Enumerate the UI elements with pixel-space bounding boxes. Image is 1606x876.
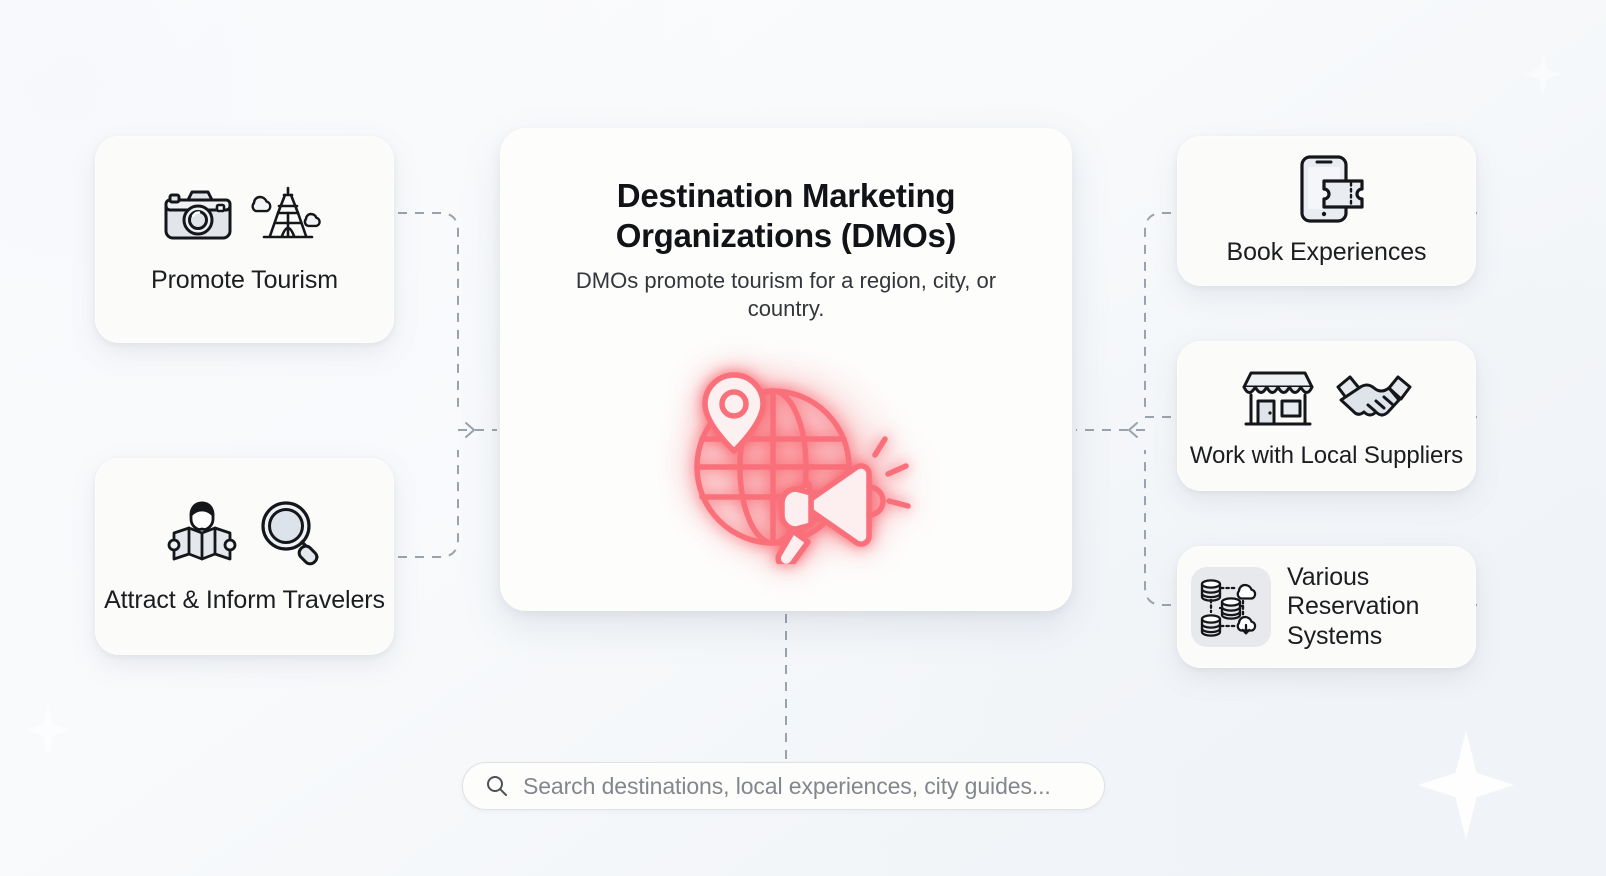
page-subtitle: DMOs promote tourism for a region, city,… — [561, 267, 1011, 324]
card-label: Attract & Inform Travelers — [104, 585, 385, 617]
database-cloud-network-icon — [1198, 575, 1264, 639]
sparkle-decoration — [26, 704, 70, 756]
eiffel-tower-icon — [248, 183, 328, 247]
traveler-with-map-icon — [163, 497, 241, 569]
card-label: Various Reservation Systems — [1287, 563, 1462, 652]
search-icon — [485, 774, 509, 798]
globe-pin-megaphone-icon — [661, 349, 911, 564]
camera-icon — [162, 186, 234, 244]
page-title: Destination Marketing Organizations (DMO… — [576, 176, 996, 257]
card-various-reservation-systems[interactable]: Various Reservation Systems — [1177, 546, 1476, 668]
center-card: Destination Marketing Organizations (DMO… — [500, 128, 1072, 611]
card-icon-group — [1191, 567, 1271, 647]
card-attract-inform-travelers[interactable]: Attract & Inform Travelers — [95, 458, 394, 655]
card-label: Promote Tourism — [151, 265, 338, 297]
card-label: Work with Local Suppliers — [1190, 441, 1463, 471]
card-icon-group — [1284, 153, 1370, 225]
search-input[interactable]: Search destinations, local experiences, … — [523, 773, 1051, 800]
search-bar[interactable]: Search destinations, local experiences, … — [462, 762, 1105, 810]
sparkle-decoration — [1418, 730, 1514, 840]
card-promote-tourism[interactable]: Promote Tourism — [95, 136, 394, 343]
mobile-ticket-icon — [1284, 153, 1370, 225]
magnifying-glass-icon — [255, 497, 327, 569]
card-icon-group — [1238, 361, 1416, 431]
handshake-icon — [1332, 365, 1416, 427]
card-label: Book Experiences — [1227, 237, 1427, 269]
card-book-experiences[interactable]: Book Experiences — [1177, 136, 1476, 286]
card-icon-group — [163, 497, 327, 569]
card-icon-group — [162, 183, 328, 247]
hero-illustration — [636, 342, 936, 572]
card-work-with-local-suppliers[interactable]: Work with Local Suppliers — [1177, 341, 1476, 491]
sparkle-decoration — [1524, 52, 1562, 96]
storefront-icon — [1238, 361, 1318, 431]
